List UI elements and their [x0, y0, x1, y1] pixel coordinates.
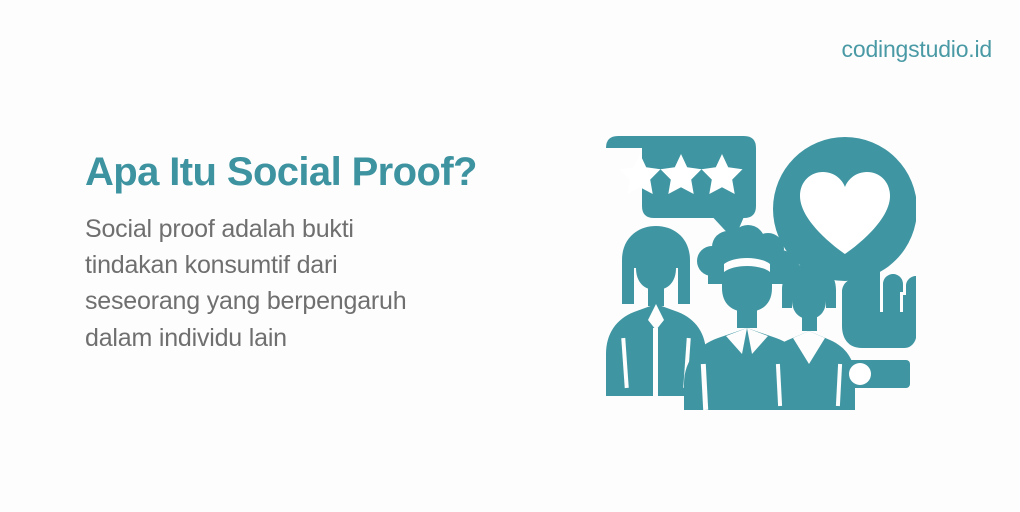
review-bubble-icon [606, 136, 756, 240]
body-line: seseorang yang berpengaruh [85, 283, 525, 319]
poster-canvas: codingstudio.id Apa Itu Social Proof? So… [0, 0, 1020, 512]
body-line: Social proof adalah bukti [85, 211, 525, 247]
brand-logo-text: codingstudio.id [842, 36, 992, 63]
page-title: Apa Itu Social Proof? [85, 150, 525, 195]
body-line: dalam individu lain [85, 320, 525, 356]
toggle-switch-icon[interactable] [844, 360, 910, 388]
body-paragraph: Social proof adalah bukti tindakan konsu… [85, 211, 525, 356]
social-proof-illustration [596, 132, 916, 410]
person-child-icon [763, 264, 855, 410]
body-line: tindakan konsumtif dari [85, 247, 525, 283]
text-column: Apa Itu Social Proof? Social proof adala… [85, 150, 525, 356]
